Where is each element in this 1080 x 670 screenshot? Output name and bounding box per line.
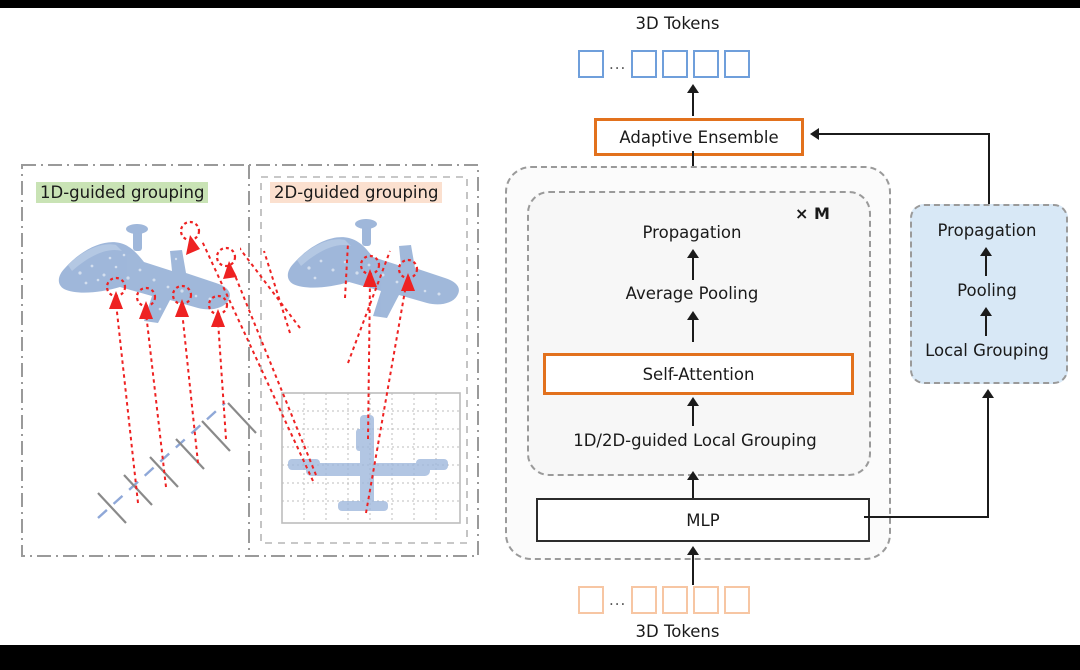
mlp-to-branch-vline: [987, 398, 989, 518]
figure-root: 3D Tokens ... Adaptive Ensemble × M Prop: [0, 0, 1080, 670]
figure-canvas: 3D Tokens ... Adaptive Ensemble × M Prop: [0, 8, 1080, 645]
panel-2d-title-wrap: 2D-guided grouping: [270, 183, 442, 202]
mlp-to-branch-arrowhead: [982, 389, 994, 398]
arrow-group-to-attn-shaft: [692, 404, 694, 426]
token-peach: [724, 586, 750, 614]
arrow-attn-to-pool-shaft: [692, 318, 694, 342]
arrow-group-to-attn-head: [687, 397, 699, 406]
projection-grid-2d: [282, 393, 460, 523]
letterbox-top: [0, 0, 1080, 8]
adaptive-ensemble-box[interactable]: Adaptive Ensemble: [594, 118, 804, 156]
arrow-mlp-to-block-head: [687, 471, 699, 480]
branch-to-ensemble-hline: [818, 133, 990, 135]
pointcloud-airplane-2d: [288, 219, 459, 318]
top-tokens-label: 3D Tokens: [575, 12, 780, 34]
self-attention-box[interactable]: Self-Attention: [543, 353, 854, 395]
branch-arrow1-head: [980, 247, 992, 256]
arrow-pool-to-prop-head: [687, 249, 699, 258]
arrow-mlp-to-block-shaft: [692, 478, 694, 500]
arrow-pool-to-prop-shaft: [692, 256, 694, 280]
token-ellipsis: ...: [609, 50, 626, 78]
arrow-tokens-to-mlp-head: [687, 546, 699, 555]
mlp-label: MLP: [686, 511, 719, 530]
grouping-arrows-1d: [116, 303, 226, 503]
branch-to-ensemble-arrowhead: [810, 128, 819, 140]
left-panel-illustrations: [20, 163, 480, 558]
branch-arrow2-shaft: [985, 314, 987, 336]
adaptive-ensemble-label: Adaptive Ensemble: [619, 128, 778, 147]
token-blue: [662, 50, 688, 78]
token-peach: [693, 586, 719, 614]
arrow-ensemble-to-tokens-shaft: [692, 91, 694, 116]
branch-arrow1-shaft: [985, 254, 987, 276]
branch-pooling-label: Pooling: [912, 278, 1062, 302]
arrow-attn-to-pool-head: [687, 311, 699, 320]
average-pooling-label: Average Pooling: [577, 281, 807, 305]
token-ellipsis: ...: [609, 586, 626, 614]
token-blue: [631, 50, 657, 78]
self-attention-label: Self-Attention: [643, 365, 755, 384]
sequence-line-1d: [98, 403, 256, 523]
token-peach: [631, 586, 657, 614]
arrow-ensemble-to-tokens-head: [687, 84, 699, 93]
bottom-token-row: ...: [578, 586, 750, 614]
arrow-tokens-to-mlp-shaft: [692, 553, 694, 585]
branch-local-grouping-label: Local Grouping: [912, 338, 1062, 362]
branch-arrow2-head: [980, 307, 992, 316]
propagation-label: Propagation: [577, 220, 807, 244]
mlp-to-branch-hline: [864, 516, 988, 518]
panel-2d-title: 2D-guided grouping: [270, 182, 442, 203]
letterbox-bottom: [0, 645, 1080, 670]
mlp-box[interactable]: MLP: [536, 498, 870, 542]
token-peach: [578, 586, 604, 614]
panel-1d-title: 1D-guided grouping: [36, 182, 208, 203]
local-grouping-label: 1D/2D-guided Local Grouping: [540, 428, 850, 452]
top-token-row: ...: [578, 50, 750, 78]
branch-propagation-label: Propagation: [912, 218, 1062, 242]
token-blue: [693, 50, 719, 78]
token-blue: [724, 50, 750, 78]
branch-container: Propagation Pooling Local Grouping: [910, 204, 1068, 384]
token-peach: [662, 586, 688, 614]
token-blue: [578, 50, 604, 78]
branch-to-ensemble-vline: [988, 133, 990, 205]
panel-1d-title-wrap: 1D-guided grouping: [36, 183, 208, 202]
bottom-tokens-label: 3D Tokens: [575, 620, 780, 642]
